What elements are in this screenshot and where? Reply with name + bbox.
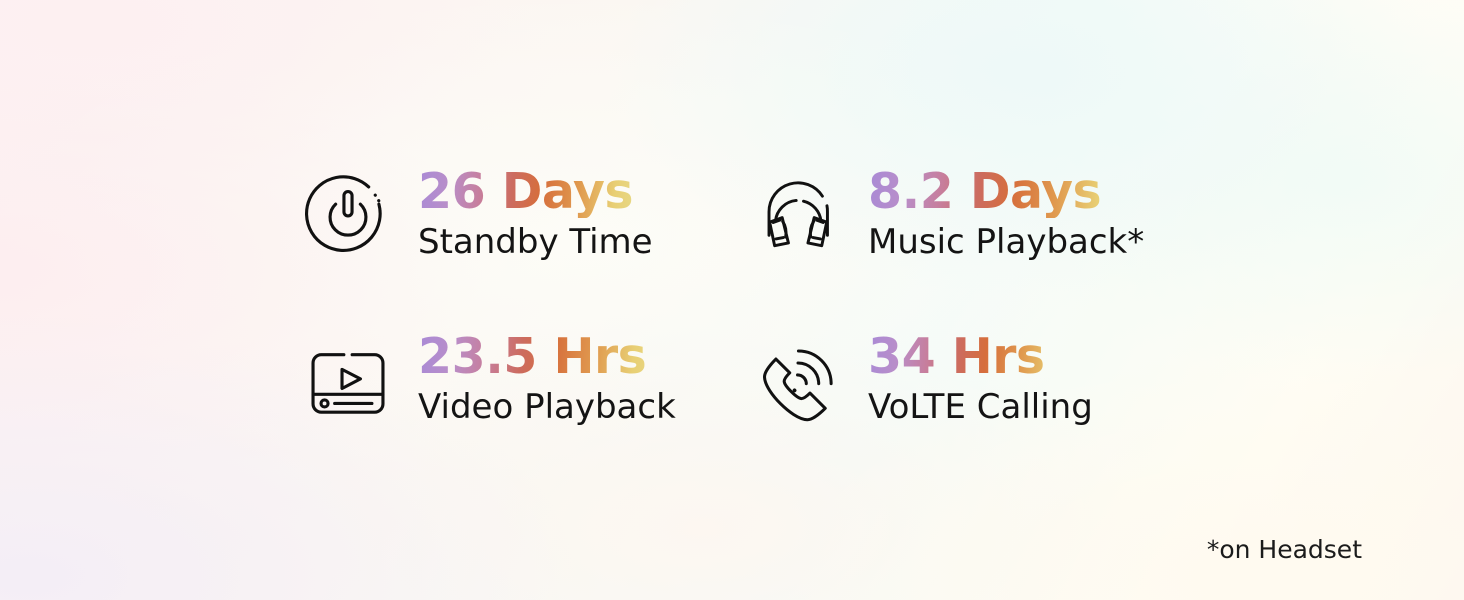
stat-value: 34 Hrs	[868, 331, 1093, 383]
stat-item-volte-calling: 34 Hrs VoLTE Calling	[750, 297, 1200, 462]
video-player-icon	[300, 332, 396, 428]
headphones-icon	[750, 167, 846, 263]
stat-text-volte-calling: 34 Hrs VoLTE Calling	[868, 331, 1093, 427]
stat-text-music-playback: 8.2 Days Music Playback*	[868, 166, 1144, 262]
stat-text-standby-time: 26 Days Standby Time	[418, 166, 653, 262]
phone-call-icon	[750, 332, 846, 428]
power-button-icon	[300, 167, 396, 263]
stat-label: Standby Time	[418, 222, 653, 262]
stat-label: Video Playback	[418, 387, 676, 427]
stat-text-video-playback: 23.5 Hrs Video Playback	[418, 331, 676, 427]
stat-item-video-playback: 23.5 Hrs Video Playback	[300, 297, 750, 462]
stat-item-music-playback: 8.2 Days Music Playback*	[750, 132, 1200, 297]
stat-value: 8.2 Days	[868, 166, 1144, 218]
battery-specs-banner: 26 Days Standby Time	[0, 0, 1464, 600]
stat-item-standby-time: 26 Days Standby Time	[300, 132, 750, 297]
stat-label: VoLTE Calling	[868, 387, 1093, 427]
stat-value: 26 Days	[418, 166, 653, 218]
stats-grid: 26 Days Standby Time	[300, 132, 1200, 462]
footnote-text: *on Headset	[1207, 535, 1362, 564]
stat-value: 23.5 Hrs	[418, 331, 676, 383]
stat-label: Music Playback*	[868, 222, 1144, 262]
